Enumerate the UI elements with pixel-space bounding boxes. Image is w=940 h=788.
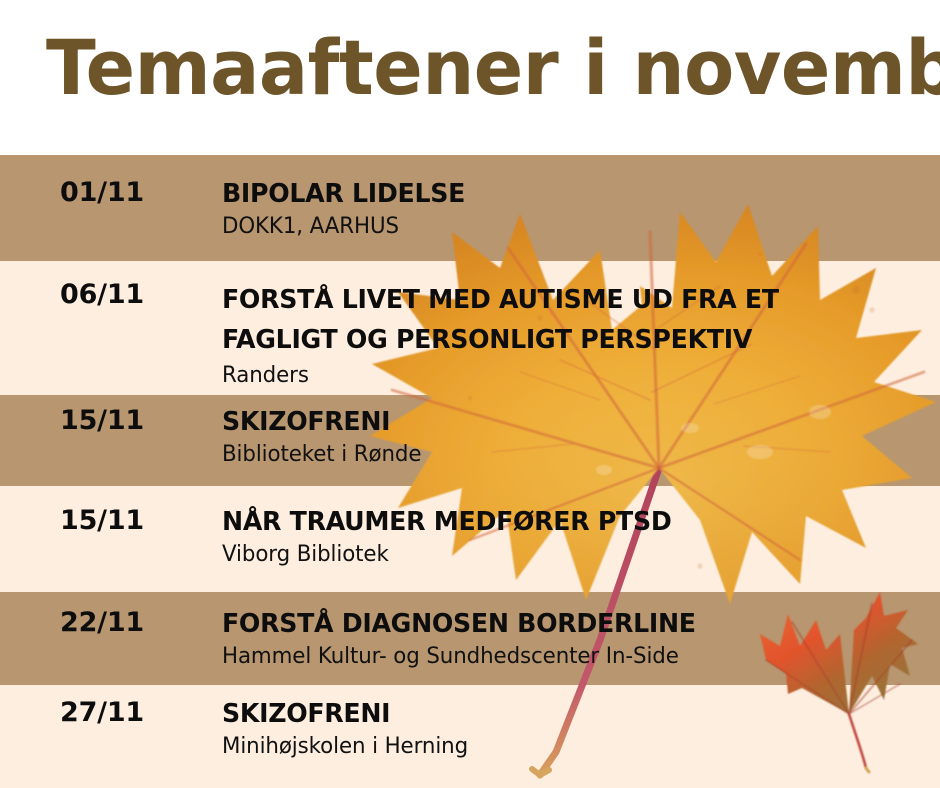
event-body: NÅR TRAUMER MEDFØRER PTSD Viborg Bibliot…: [222, 506, 922, 569]
poster-header: Temaaftener i november: [0, 0, 940, 155]
event-date: 27/11: [60, 698, 210, 728]
event-venue: Viborg Bibliotek: [222, 541, 901, 569]
event-title: BIPOLAR LIDELSE: [222, 178, 901, 211]
event-date: 15/11: [60, 406, 210, 436]
event-date: 15/11: [60, 506, 210, 536]
event-title: FORSTÅ DIAGNOSEN BORDERLINE: [222, 608, 901, 641]
event-venue: DOKK1, AARHUS: [222, 213, 901, 241]
event-body: FORSTÅ LIVET MED AUTISME UD FRA ET FAGLI…: [222, 280, 922, 390]
event-body: SKIZOFRENI Minihøjskolen i Herning: [222, 698, 922, 761]
event-title: SKIZOFRENI: [222, 698, 901, 731]
event-venue: Biblioteket i Rønde: [222, 441, 901, 469]
poster-root: Temaaftener i november 01/11 BIPOLAR LID…: [0, 0, 940, 788]
event-venue: Minihøjskolen i Herning: [222, 733, 901, 761]
event-venue: Hammel Kultur- og Sundhedscenter In-Side: [222, 643, 901, 671]
page-title: Temaaftener i november: [46, 26, 872, 110]
event-date: 01/11: [60, 178, 210, 208]
event-body: SKIZOFRENI Biblioteket i Rønde: [222, 406, 922, 469]
event-title: SKIZOFRENI: [222, 406, 901, 439]
event-title: FORSTÅ LIVET MED AUTISME UD FRA ET FAGLI…: [222, 280, 901, 360]
event-body: FORSTÅ DIAGNOSEN BORDERLINE Hammel Kultu…: [222, 608, 922, 671]
event-body: BIPOLAR LIDELSE DOKK1, AARHUS: [222, 178, 922, 241]
event-title: NÅR TRAUMER MEDFØRER PTSD: [222, 506, 901, 539]
event-date: 06/11: [60, 280, 210, 310]
event-date: 22/11: [60, 608, 210, 638]
event-venue: Randers: [222, 362, 901, 390]
